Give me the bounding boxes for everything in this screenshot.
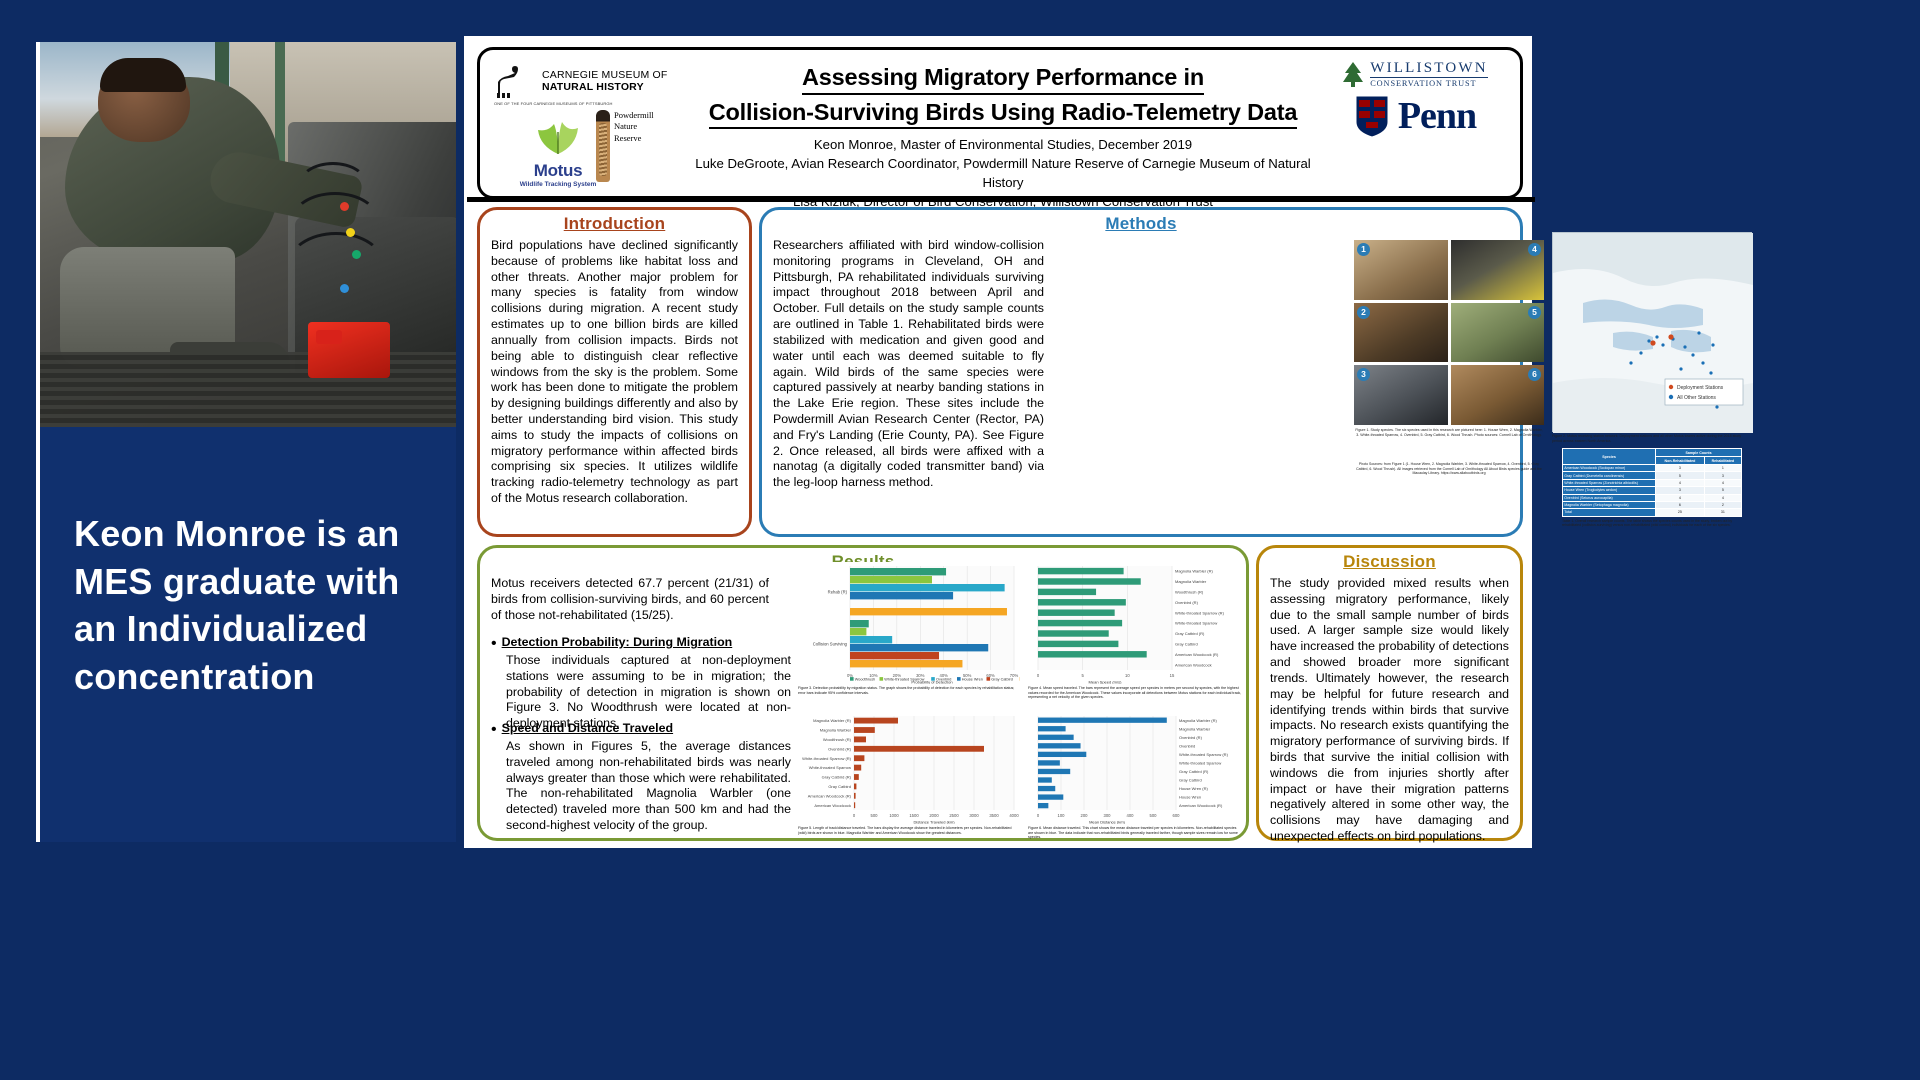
svg-text:All Other Stations: All Other Stations xyxy=(1677,395,1716,401)
svg-text:Ovenbird (R): Ovenbird (R) xyxy=(828,746,852,751)
bar xyxy=(850,592,953,599)
svg-text:Gray Catbird (R): Gray Catbird (R) xyxy=(1175,631,1205,636)
results-bullet-2: • Speed and Distance Traveled As shown i… xyxy=(491,718,791,834)
bar xyxy=(850,608,1007,615)
table-cell-species: Magnolia Warbler (Setophaga magnolia) xyxy=(1563,501,1656,508)
discussion-panel: Discussion The study provided mixed resu… xyxy=(1256,545,1523,841)
title-block: Assessing Migratory Performance in Colli… xyxy=(695,64,1311,211)
bird-photo-gray-catbird: 3 xyxy=(1354,365,1448,425)
fig4-svg: 051015Magnolia Warbler (R)Magnolia Warbl… xyxy=(1028,562,1242,684)
bird-number-4: 4 xyxy=(1528,243,1541,256)
svg-text:600: 600 xyxy=(1173,813,1181,818)
figure-6-caption: Figure 6. Mean distance traveled. This c… xyxy=(1028,826,1242,840)
penn-wordmark: Penn xyxy=(1398,94,1476,138)
table-cell-count: 5 xyxy=(1656,472,1705,479)
bird-number-3: 3 xyxy=(1357,368,1370,381)
table-row: Gray Catbird (Dumetella carolinensis)53 xyxy=(1563,472,1742,479)
svg-text:300: 300 xyxy=(1104,813,1112,818)
bar xyxy=(854,783,856,789)
svg-text:Magnolia Warbler (R): Magnolia Warbler (R) xyxy=(813,718,852,723)
svg-text:3000: 3000 xyxy=(969,813,979,818)
figure-6-chart: 0100200300400500600Magnolia Warbler (R)M… xyxy=(1028,712,1242,824)
figure-1-bird-photos: 1 4 2 5 3 6 xyxy=(1354,240,1544,425)
bar xyxy=(1038,620,1122,626)
poster-header: CARNEGIE MUSEUM OF NATURAL HISTORY ONE O… xyxy=(477,47,1523,199)
table-cell-species: Gray Catbird (Dumetella carolinensis) xyxy=(1563,472,1656,479)
svg-text:500: 500 xyxy=(871,813,879,818)
cmnh-line-1: CARNEGIE MUSEUM OF xyxy=(542,69,668,81)
bar xyxy=(850,660,962,667)
svg-text:Probability of Detection: Probability of Detection xyxy=(911,680,952,685)
methods-body: Researchers affiliated with bird window-… xyxy=(762,234,1055,497)
bar xyxy=(854,746,984,752)
svg-text:Woodthrush: Woodthrush xyxy=(855,678,875,682)
svg-text:5: 5 xyxy=(1081,673,1084,678)
bar xyxy=(1038,743,1081,748)
cmnh-line-2: NATURAL HISTORY xyxy=(542,81,644,93)
svg-text:House Wren (R): House Wren (R) xyxy=(1179,786,1208,791)
table-cell-count: 3 xyxy=(1656,465,1705,472)
willistown-line-2: CONSERVATION TRUST xyxy=(1370,77,1488,88)
figure-2-motus-map: Deployment Stations All Other Stations xyxy=(1552,232,1752,432)
poster-title-line-2: Collision-Surviving Birds Using Radio-Te… xyxy=(709,99,1298,130)
svg-text:Magnolia Warbler: Magnolia Warbler xyxy=(1179,726,1211,731)
bar xyxy=(854,765,861,771)
poster-title-line-1: Assessing Migratory Performance in xyxy=(802,64,1204,95)
svg-text:White-throated Sparrow: White-throated Sparrow xyxy=(809,765,851,770)
powdermill-line-2: Nature xyxy=(614,121,637,131)
results-bullet-2-head: Speed and Distance Traveled xyxy=(502,721,673,739)
bullet-marker: • xyxy=(491,721,497,739)
willistown-logo: WILLISTOWN CONSERVATION TRUST xyxy=(1320,60,1510,88)
fig5-svg: 05001000150020002500300035004000Magnolia… xyxy=(798,712,1020,824)
svg-text:4000: 4000 xyxy=(1009,813,1019,818)
bird-photo-magnolia-warbler: 4 xyxy=(1451,240,1545,300)
svg-text:Mean Distance (km): Mean Distance (km) xyxy=(1089,820,1125,825)
feather-icon xyxy=(596,110,610,182)
motus-tagline: Wildlife Tracking System xyxy=(494,181,622,188)
results-intro: Motus receivers detected 67.7 percent (2… xyxy=(480,572,780,629)
research-poster: CARNEGIE MUSEUM OF NATURAL HISTORY ONE O… xyxy=(464,36,1532,848)
bar xyxy=(1038,735,1074,740)
svg-text:Woodthrush (R): Woodthrush (R) xyxy=(823,737,852,742)
bar xyxy=(1038,794,1063,799)
penn-logo: Penn xyxy=(1320,94,1510,138)
table-cell-count: 4 xyxy=(1656,479,1705,486)
bar xyxy=(854,755,864,761)
methods-title: Methods xyxy=(762,210,1520,234)
svg-text:2500: 2500 xyxy=(949,813,959,818)
bird-number-1: 1 xyxy=(1357,243,1370,256)
table-cell-species: Ovenbird (Seiurus aurocapilla) xyxy=(1563,494,1656,501)
svg-text:Rehab (R): Rehab (R) xyxy=(828,590,848,595)
svg-text:500: 500 xyxy=(1150,813,1158,818)
svg-text:Ovenbird: Ovenbird xyxy=(1179,743,1195,748)
svg-text:1000: 1000 xyxy=(889,813,899,818)
table-row: American Woodcock (Scolopax minor)31 xyxy=(1563,465,1742,472)
author-line-1: Keon Monroe, Master of Environmental Stu… xyxy=(695,136,1311,155)
photo-connector-red xyxy=(340,202,349,211)
table-cell-species: House Wren (Troglodytes aedon) xyxy=(1563,487,1656,494)
researcher-photo xyxy=(40,42,456,427)
bar xyxy=(850,576,932,583)
results-bullet-1-head: Detection Probability: During Migration xyxy=(502,635,733,653)
svg-text:Mean Speed (m/s): Mean Speed (m/s) xyxy=(1089,680,1123,685)
figure-2-caption: Figure 2. Motus receiving station networ… xyxy=(1552,434,1752,444)
svg-text:House Wren: House Wren xyxy=(1179,795,1201,800)
table-1-caption: Table 1. Overall research sample counts.… xyxy=(1562,519,1742,528)
willistown-line-1: WILLISTOWN xyxy=(1370,60,1488,77)
svg-text:Woodthrush (R): Woodthrush (R) xyxy=(1175,590,1204,595)
header-divider xyxy=(467,197,1535,202)
bird-photo-ovenbird: 5 xyxy=(1451,303,1545,363)
table-cell-count: 4 xyxy=(1704,494,1741,501)
svg-text:15: 15 xyxy=(1170,673,1175,678)
bird-number-2: 2 xyxy=(1357,306,1370,319)
cmnh-subline: ONE OF THE FOUR CARNEGIE MUSEUMS OF PITT… xyxy=(494,101,674,106)
svg-text:Magnolia Warbler (R): Magnolia Warbler (R) xyxy=(1175,569,1214,574)
bar xyxy=(854,774,859,780)
motus-leaf-icon xyxy=(530,143,586,160)
svg-text:Collision Surviving: Collision Surviving xyxy=(813,642,848,647)
figure-3-caption: Figure 3. Detection probability by migra… xyxy=(798,686,1020,695)
table-cell-count: 3 xyxy=(1656,487,1705,494)
table-cell-count: 1 xyxy=(1704,465,1741,472)
table-row: Ovenbird (Seiurus aurocapilla)44 xyxy=(1563,494,1742,501)
table-header-group: Sample Counts xyxy=(1656,449,1742,457)
discussion-body: The study provided mixed results when as… xyxy=(1259,572,1520,851)
svg-text:Gray Catbird: Gray Catbird xyxy=(1175,642,1198,647)
left-intro-panel: Keon Monroe is an MES graduate with an I… xyxy=(36,42,456,842)
table-cell-species: Total xyxy=(1563,509,1656,516)
fig3-svg: 0%10%20%30%40%50%60%70%Rehab (R)Collisio… xyxy=(798,562,1020,684)
carnegie-museum-logo: CARNEGIE MUSEUM OF NATURAL HISTORY ONE O… xyxy=(494,64,674,106)
svg-text:White-throated Sparrow (R): White-throated Sparrow (R) xyxy=(802,756,852,761)
svg-text:Gray Catbird: Gray Catbird xyxy=(991,678,1013,682)
bar xyxy=(850,568,946,575)
table-col-non-rehab: Non-Rehabilitated xyxy=(1656,457,1705,465)
figure-5-caption: Figure 5. Length of track/distance trave… xyxy=(798,826,1020,835)
left-panel-caption: Keon Monroe is an MES graduate with an I… xyxy=(74,510,434,700)
tree-icon xyxy=(1342,61,1364,87)
bar xyxy=(854,727,875,733)
svg-text:White-throated Sparrow: White-throated Sparrow xyxy=(1175,621,1217,626)
svg-text:Gray Catbird: Gray Catbird xyxy=(1179,778,1202,783)
bar xyxy=(1038,726,1066,731)
bar xyxy=(1038,609,1115,615)
table-cell-species: American Woodcock (Scolopax minor) xyxy=(1563,465,1656,472)
bird-photo-white-throated-sparrow: 2 xyxy=(1354,303,1448,363)
bar xyxy=(850,584,1005,591)
photo-person-hair xyxy=(100,58,186,92)
table-cell-count: 3 xyxy=(1704,472,1741,479)
bullet-marker: • xyxy=(491,635,497,653)
table-cell-species: White-throated Sparrow (Zonotrichia albi… xyxy=(1563,479,1656,486)
svg-text:Ovenbird (R): Ovenbird (R) xyxy=(1175,600,1199,605)
svg-text:Gray Catbird: Gray Catbird xyxy=(828,784,851,789)
table-cell-count: 31 xyxy=(1704,509,1741,516)
svg-text:Magnolia Warbler: Magnolia Warbler xyxy=(1175,579,1207,584)
svg-text:0: 0 xyxy=(853,813,856,818)
photo-red-case-latch xyxy=(316,330,342,344)
photo-connector-blue xyxy=(340,284,349,293)
introduction-title: Introduction xyxy=(480,210,749,234)
table-1: Species Sample Counts Non-Rehabilitated … xyxy=(1562,448,1742,528)
svg-text:Magnolia Warbler: Magnolia Warbler xyxy=(820,728,852,733)
cmnh-wordmark: CARNEGIE MUSEUM OF NATURAL HISTORY xyxy=(542,69,668,93)
svg-text:100: 100 xyxy=(1058,813,1066,818)
bar xyxy=(854,718,898,724)
bird-number-5: 5 xyxy=(1528,306,1541,319)
bar xyxy=(1038,786,1055,791)
svg-text:American Woodcock: American Woodcock xyxy=(1175,662,1212,667)
right-logos: WILLISTOWN CONSERVATION TRUST xyxy=(1320,60,1510,138)
svg-text:American Woodcock (R): American Woodcock (R) xyxy=(1179,803,1223,808)
powdermill-line-1: Powdermill xyxy=(614,110,654,120)
bar xyxy=(850,628,866,635)
willistown-wordmark: WILLISTOWN CONSERVATION TRUST xyxy=(1370,60,1488,88)
table-cell-count: 4 xyxy=(1656,494,1705,501)
bar xyxy=(1038,641,1118,647)
bar xyxy=(850,652,939,659)
bar xyxy=(1038,589,1096,595)
svg-text:1500: 1500 xyxy=(909,813,919,818)
photo-floor-grate xyxy=(40,352,456,427)
table-cell-count: 2 xyxy=(1704,501,1741,508)
bar xyxy=(1038,718,1167,723)
bird-photo-house-wren: 1 xyxy=(1354,240,1448,300)
fig6-svg: 0100200300400500600Magnolia Warbler (R)M… xyxy=(1028,712,1242,824)
author-line-2: Luke DeGroote, Avian Research Coordinato… xyxy=(695,155,1311,192)
svg-text:Gray Catbird (R): Gray Catbird (R) xyxy=(822,775,852,780)
table-cell-count: 5 xyxy=(1704,487,1741,494)
photo-cable-3 xyxy=(286,232,386,302)
svg-text:2000: 2000 xyxy=(929,813,939,818)
svg-text:White-throated Sparrow (R): White-throated Sparrow (R) xyxy=(1179,752,1229,757)
bar xyxy=(1038,752,1086,757)
powdermill-wordmark: Powdermill Nature Reserve xyxy=(614,110,654,182)
bar xyxy=(1038,568,1124,574)
bar xyxy=(1038,578,1141,584)
introduction-panel: Introduction Bird populations have decli… xyxy=(477,207,752,537)
photo-connector-yellow xyxy=(346,228,355,237)
figure-4-caption: Figure 4. Mean speed traveled. The bars … xyxy=(1028,686,1242,700)
svg-text:American Woodcock: American Woodcock xyxy=(814,803,851,808)
bar xyxy=(1038,760,1060,765)
table-row: Magnolia Warbler (Setophaga magnolia)62 xyxy=(1563,501,1742,508)
figure-3-chart: 0%10%20%30%40%50%60%70%Rehab (R)Collisio… xyxy=(798,562,1020,684)
penn-shield-icon xyxy=(1354,94,1390,138)
svg-text:White-throated Sparrow: White-throated Sparrow xyxy=(1179,761,1221,766)
bar xyxy=(1038,599,1126,605)
bar xyxy=(854,736,866,742)
svg-text:400: 400 xyxy=(1127,813,1135,818)
table-row: House Wren (Troglodytes aedon)35 xyxy=(1563,487,1742,494)
table-col-rehab: Rehabilitated xyxy=(1704,457,1741,465)
svg-text:Gray Catbird (R): Gray Catbird (R) xyxy=(1179,769,1209,774)
table-col-species: Species xyxy=(1563,449,1656,465)
bar xyxy=(1038,651,1147,657)
svg-text:Ovenbird (R): Ovenbird (R) xyxy=(1179,735,1203,740)
table-cell-count: 4 xyxy=(1704,479,1741,486)
table-row: Total2531 xyxy=(1563,509,1742,516)
bar xyxy=(1038,769,1070,774)
figure-1-caption: Figure 1. Study species. The six species… xyxy=(1354,428,1544,438)
svg-text:Magnolia Warbler (R): Magnolia Warbler (R) xyxy=(1179,718,1218,723)
bar xyxy=(1038,777,1052,782)
svg-text:Deployment Stations: Deployment Stations xyxy=(1677,385,1724,391)
svg-text:200: 200 xyxy=(1081,813,1089,818)
bird-photo-wood-thrush: 6 xyxy=(1451,365,1545,425)
svg-text:0: 0 xyxy=(1037,673,1040,678)
bar xyxy=(1038,630,1109,636)
powdermill-logo: Powdermill Nature Reserve xyxy=(596,110,680,182)
svg-text:White-throated Sparrow (R): White-throated Sparrow (R) xyxy=(1175,610,1225,615)
table-cell-count: 6 xyxy=(1656,501,1705,508)
bar xyxy=(850,620,869,627)
powdermill-line-3: Reserve xyxy=(614,133,641,143)
figure-1-photo-sources: Photo Sources: from Figure 1 (1. House W… xyxy=(1354,462,1544,476)
svg-text:American Woodcock (R): American Woodcock (R) xyxy=(808,793,852,798)
table-cell-count: 25 xyxy=(1656,509,1705,516)
results-bullet-2-body: As shown in Figures 5, the average dista… xyxy=(491,739,791,834)
svg-text:10: 10 xyxy=(1125,673,1130,678)
svg-text:House Wren: House Wren xyxy=(962,678,983,682)
figure-5-chart: 05001000150020002500300035004000Magnolia… xyxy=(798,712,1020,824)
svg-text:3500: 3500 xyxy=(989,813,999,818)
svg-text:0: 0 xyxy=(1037,813,1040,818)
discussion-title: Discussion xyxy=(1259,548,1520,572)
bird-number-6: 6 xyxy=(1528,368,1541,381)
figure-4-chart: 051015Magnolia Warbler (R)Magnolia Warbl… xyxy=(1028,562,1242,684)
bar xyxy=(1038,803,1048,808)
table-row: White-throated Sparrow (Zonotrichia albi… xyxy=(1563,479,1742,486)
sample-counts-table: Species Sample Counts Non-Rehabilitated … xyxy=(1562,448,1742,517)
methods-panel: Methods Researchers affiliated with bird… xyxy=(759,207,1523,537)
photo-connector-green xyxy=(352,250,361,259)
bar xyxy=(850,636,892,643)
bar xyxy=(854,802,855,808)
introduction-body: Bird populations have declined significa… xyxy=(480,234,749,513)
svg-text:Distance Traveled (km): Distance Traveled (km) xyxy=(913,820,955,825)
results-panel: Results Motus receivers detected 67.7 pe… xyxy=(477,545,1249,841)
dinosaur-icon xyxy=(494,64,536,98)
svg-text:American Woodcock (R): American Woodcock (R) xyxy=(1175,652,1219,657)
bar xyxy=(854,793,856,799)
bar xyxy=(850,644,988,651)
